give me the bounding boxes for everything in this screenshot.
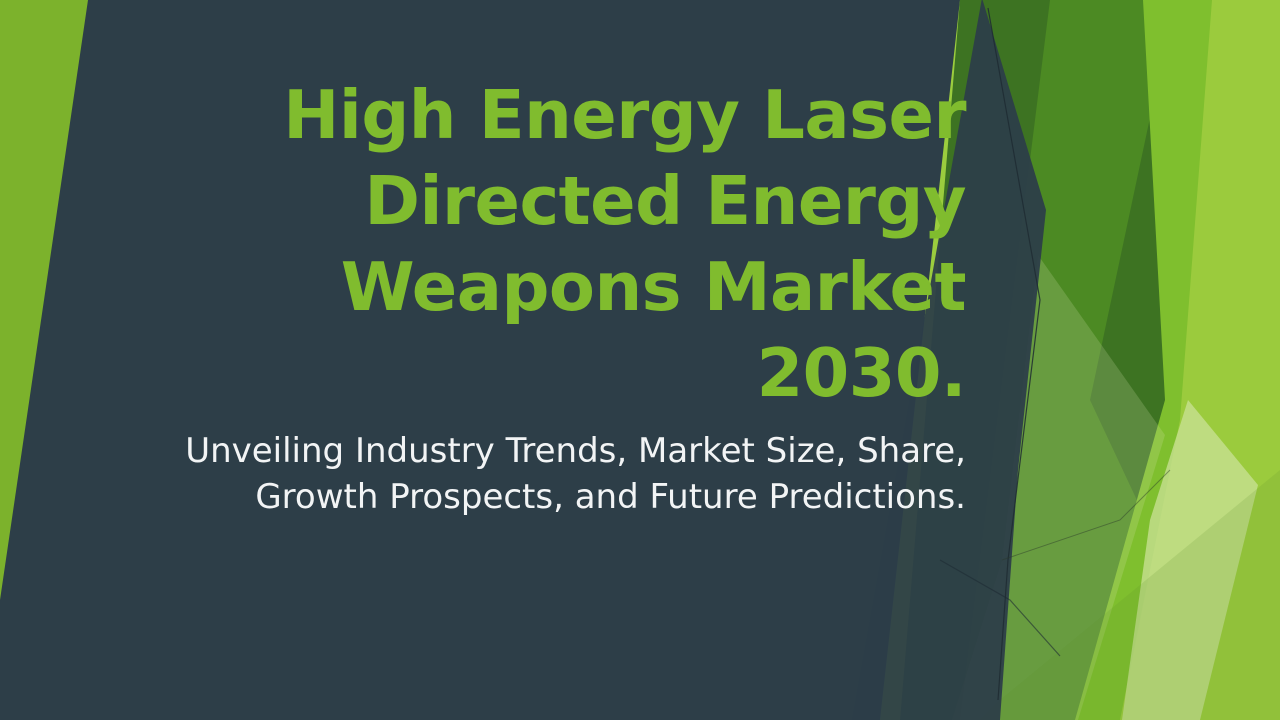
page-subtitle: Unveiling Industry Trends, Market Size, … [150,428,966,520]
subtitle-line-2: Growth Prospects, and Future Predictions… [150,474,966,520]
subtitle-line-1: Unveiling Industry Trends, Market Size, … [150,428,966,474]
slide-text-layer: High Energy Laser Directed Energy Weapon… [0,0,1280,720]
title-line-1: High Energy Laser [150,72,966,158]
page-title: High Energy Laser Directed Energy Weapon… [150,72,966,416]
title-slide: High Energy Laser Directed Energy Weapon… [0,0,1280,720]
title-line-2: Directed Energy [150,158,966,244]
title-line-4: 2030. [150,330,966,416]
title-line-3: Weapons Market [150,244,966,330]
